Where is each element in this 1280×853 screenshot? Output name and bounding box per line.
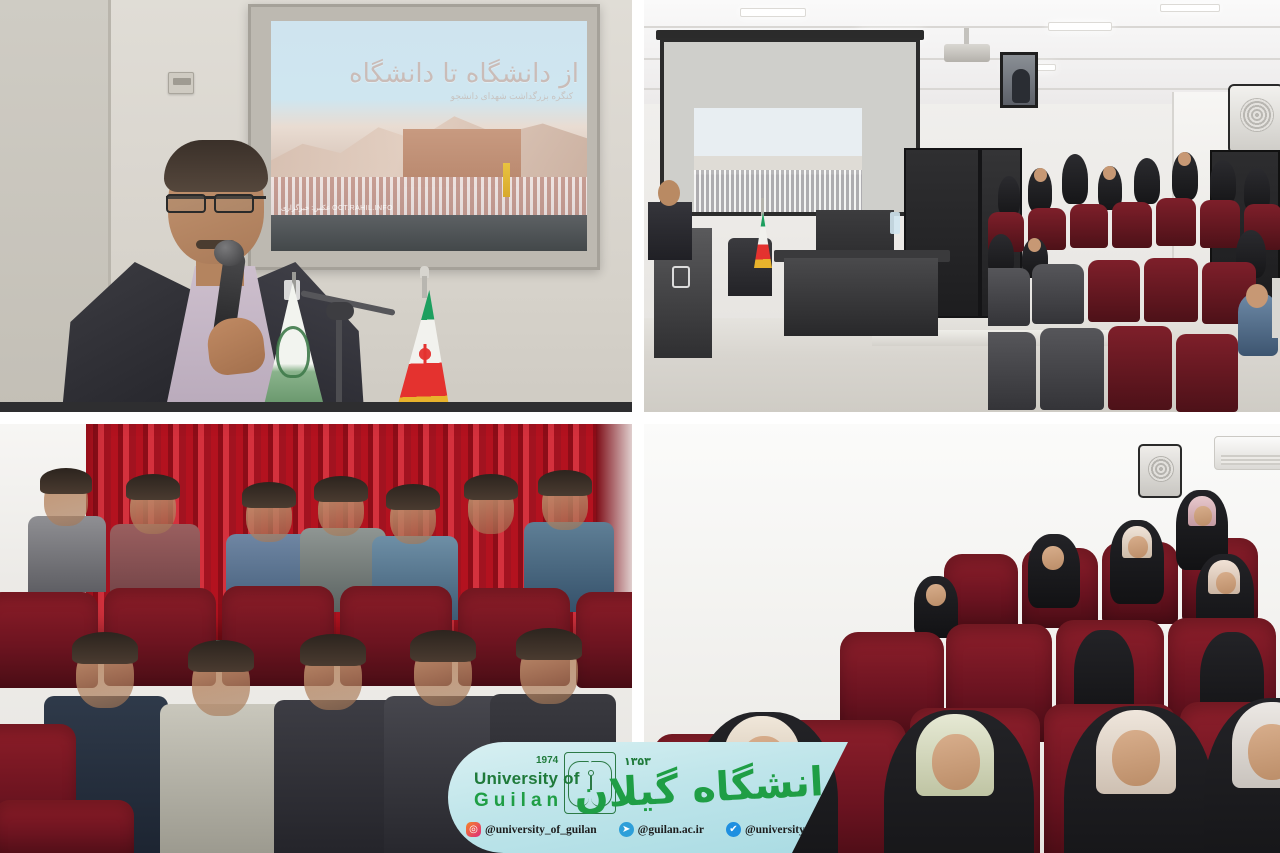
attendee-face [926, 584, 946, 606]
slide-watermark: عکس: خبرگزاری OCT.RAHIL.INFO [281, 205, 393, 214]
auditorium-seat [1108, 326, 1172, 410]
bale-icon: ✔ [726, 822, 741, 837]
attendee-hair [40, 468, 92, 494]
attendee-face [1103, 166, 1116, 180]
iran-flag-pole [761, 198, 764, 216]
photo-top-left-speaker: از دانشگاه تا دانشگاه کنگره بزرگداشت شهد… [0, 0, 632, 412]
attendee-face [932, 734, 980, 790]
attendee-face [1042, 546, 1064, 570]
attendee-hair [72, 632, 138, 664]
auditorium-seat [1070, 204, 1108, 248]
auditorium-seat [1040, 328, 1104, 410]
auditorium-seat [1200, 200, 1240, 248]
attendee-hair [464, 474, 518, 500]
attendee-hair [410, 630, 476, 662]
auditorium-seat [1032, 264, 1084, 324]
university-of-guilan-banner: 1974 ۱۳۵۳ University of Guilan دانشگاه گ… [448, 742, 848, 853]
projected-slide [694, 108, 862, 212]
attendee-face [1246, 284, 1268, 308]
thermostat-icon [168, 72, 194, 94]
attendee [1134, 158, 1160, 204]
conference-table [784, 258, 938, 336]
slide-footer-band [271, 215, 587, 251]
social-telegram[interactable]: ➤ @guilan.ac.ir [619, 822, 704, 837]
projection-screen [660, 38, 920, 216]
microphone-stand-pole [336, 318, 342, 412]
telegram-icon: ➤ [619, 822, 634, 837]
ceiling-light [1048, 22, 1112, 31]
attendee-face [1112, 730, 1160, 786]
instagram-icon: ◎ [466, 822, 481, 837]
wall-speaker [1138, 444, 1182, 498]
attendee-hair [126, 474, 180, 500]
auditorium-seat [1112, 202, 1152, 248]
projected-slide: از دانشگاه تا دانشگاه کنگره بزرگداشت شهد… [271, 21, 587, 251]
attendee-body [28, 516, 106, 592]
attendee-hair [314, 476, 368, 502]
podium-emblem [672, 266, 690, 288]
social-handles: ◎ @university_of_guilan ➤ @guilan.ac.ir … [466, 822, 848, 837]
photo-top-right-hall [644, 0, 1280, 412]
auditorium-seat [1144, 258, 1198, 322]
slide-subtitle: کنگره بزرگداشت شهدای دانشجو [451, 91, 573, 102]
attendee-face [1034, 168, 1047, 182]
water-bottle [890, 212, 900, 234]
eyeglasses-left-lens [166, 194, 206, 213]
speaker-body [648, 202, 692, 260]
framed-portrait [1000, 52, 1038, 108]
attendee-face [1216, 572, 1236, 594]
auditorium-seat [1176, 334, 1238, 412]
iran-flag-pole [422, 276, 427, 298]
attendee-face [1194, 506, 1212, 526]
attendee-hair [188, 640, 254, 672]
speaker-hair [164, 140, 268, 192]
attendee [998, 176, 1020, 216]
auditorium-seat [0, 800, 134, 853]
audience-area [988, 142, 1280, 412]
university-flag-emblem [276, 326, 310, 378]
attendee-hair [242, 482, 296, 508]
air-conditioner [1214, 436, 1280, 470]
telegram-handle: @guilan.ac.ir [638, 824, 704, 836]
auditorium-seat [988, 268, 1030, 326]
ceiling-projector [944, 44, 990, 62]
slide-headline: از دانشگاه تا دانشگاه [349, 59, 579, 89]
ceiling-seam [644, 26, 1280, 28]
social-instagram[interactable]: ◎ @university_of_guilan [466, 822, 597, 837]
auditorium-seat [576, 592, 632, 688]
attendee-hair [386, 484, 440, 510]
attendee-face [1128, 536, 1148, 558]
ceiling-light [1160, 4, 1220, 12]
wall-trim [1272, 278, 1280, 338]
microphone-stand-head [326, 302, 354, 320]
attendee-face [1178, 152, 1191, 166]
attendee [1210, 160, 1236, 204]
speaker-head [658, 180, 680, 206]
auditorium-seat [988, 332, 1036, 410]
auditorium-seat [1156, 198, 1196, 246]
founding-year-gregorian: 1974 [536, 755, 558, 766]
eyeglasses-right-lens [214, 194, 254, 213]
attendee-hair [538, 470, 592, 496]
attendee-hair [516, 628, 582, 660]
attendee-face [1028, 238, 1041, 252]
iran-flag-emblem [414, 344, 436, 364]
university-name-line2: Guilan [474, 790, 563, 812]
photo-collage-page: از دانشگاه تا دانشگاه کنگره بزرگداشت شهد… [0, 0, 1280, 853]
auditorium-seat [1088, 260, 1140, 322]
attendee-body [274, 700, 398, 853]
projection-screen: از دانشگاه تا دانشگاه کنگره بزرگداشت شهد… [248, 4, 600, 270]
ceiling-light [740, 8, 806, 17]
slide-flag [503, 163, 510, 197]
instagram-handle: @university_of_guilan [485, 824, 597, 836]
floor-shadow [0, 402, 632, 412]
attendee [1062, 154, 1088, 204]
university-name-line1: University of [474, 769, 580, 789]
attendee-hair [300, 634, 366, 666]
attendee-body [160, 704, 286, 853]
